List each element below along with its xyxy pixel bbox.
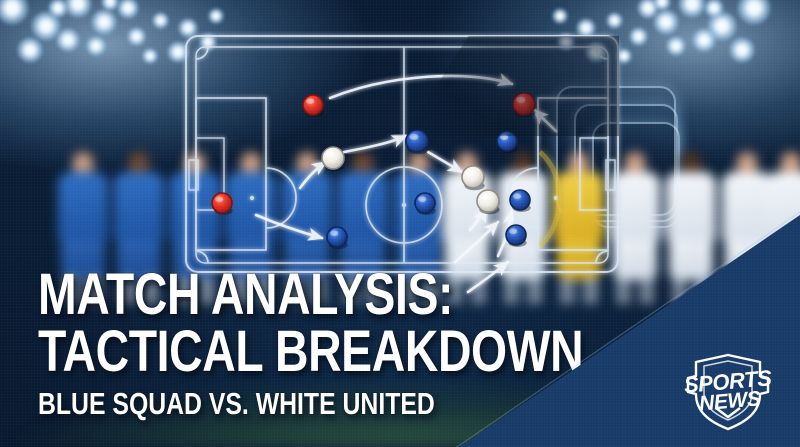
film-grain [0,0,800,447]
broadcast-title-card: MATCH ANALYSIS: TACTICAL BREAKDOWN BLUE … [0,0,800,447]
